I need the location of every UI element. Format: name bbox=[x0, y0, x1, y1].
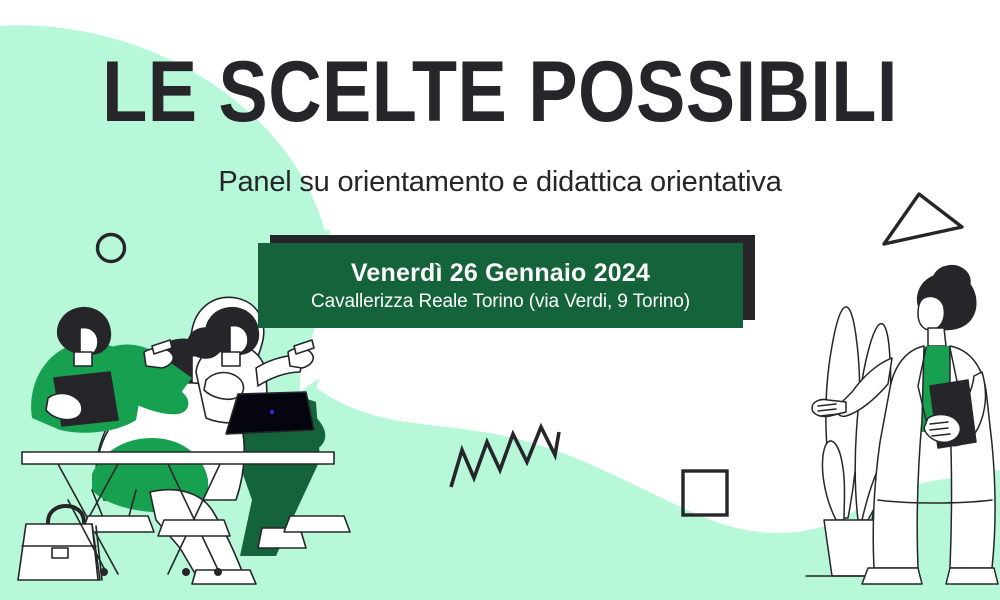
triangle-outline-icon bbox=[884, 194, 962, 244]
zigzag-line-icon bbox=[451, 427, 559, 487]
page-title: LE SCELTE POSSIBILI bbox=[70, 50, 930, 134]
poster-canvas: Venerdì 26 Gennaio 2024 Cavallerizza Rea… bbox=[0, 0, 1000, 600]
event-banner: Venerdì 26 Gennaio 2024 Cavallerizza Rea… bbox=[258, 243, 743, 328]
event-banner-box: Venerdì 26 Gennaio 2024 Cavallerizza Rea… bbox=[258, 243, 743, 328]
page-subtitle: Panel su orientamento e didattica orient… bbox=[0, 166, 1000, 199]
circle-outline-icon bbox=[98, 235, 125, 262]
event-venue: Cavallerizza Reale Torino (via Verdi, 9 … bbox=[311, 291, 690, 313]
square-outline-icon bbox=[683, 471, 727, 515]
event-date: Venerdì 26 Gennaio 2024 bbox=[351, 259, 650, 288]
